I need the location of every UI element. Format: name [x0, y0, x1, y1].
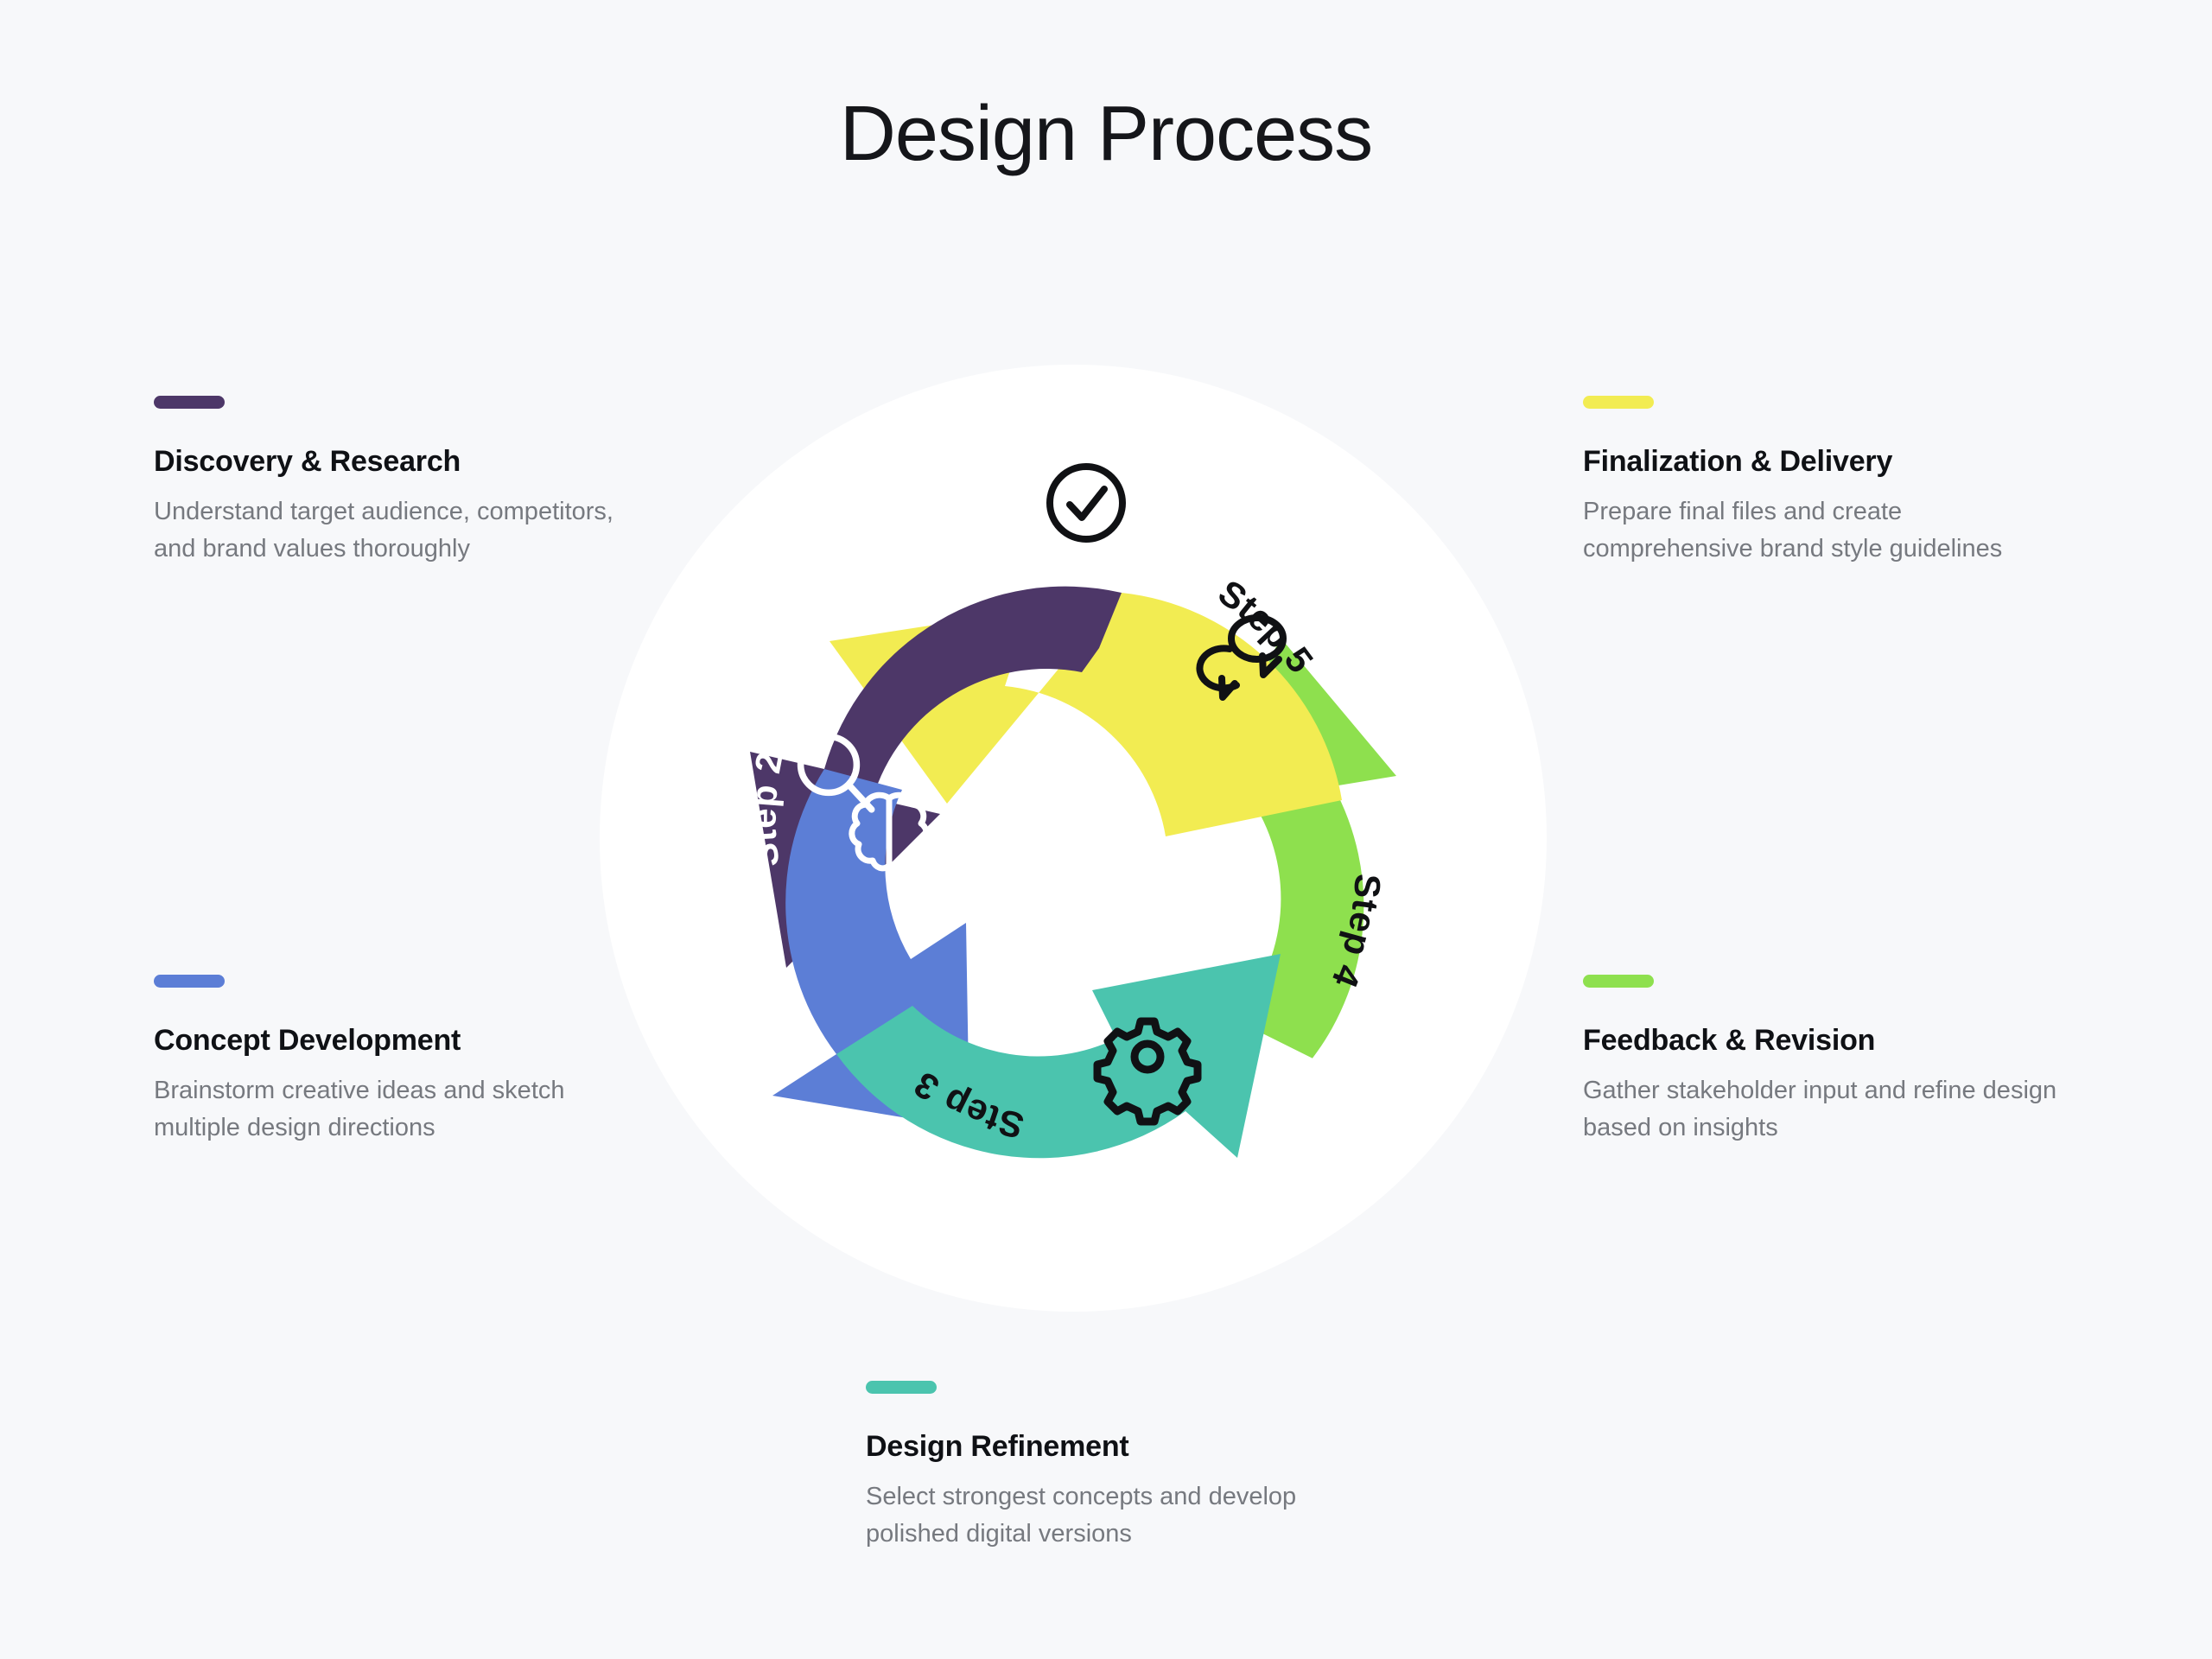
cycle-diagram: Step 1 Step 2 Step 3 Step 4 Step 5 [598, 363, 1548, 1313]
step-description-feedback: Gather stakeholder input and refine desi… [1583, 1072, 2067, 1146]
accent-bar-feedback [1583, 975, 1654, 988]
step-description-discovery: Understand target audience, competitors,… [154, 493, 638, 567]
step-description-concept: Brainstorm creative ideas and sketch mul… [154, 1072, 646, 1146]
step-label-2: Step 2 [743, 748, 791, 869]
step-heading-refinement: Design Refinement [866, 1430, 1384, 1464]
infographic-canvas: Design Process [0, 0, 2212, 1659]
step-info-discovery-research: Discovery & Research Understand target a… [154, 396, 638, 567]
step-heading-discovery: Discovery & Research [154, 445, 638, 479]
accent-bar-finalization [1583, 396, 1654, 409]
accent-bar-concept [154, 975, 225, 988]
step-description-finalization: Prepare final files and create comprehen… [1583, 493, 2067, 567]
step-info-concept-development: Concept Development Brainstorm creative … [154, 975, 646, 1146]
step-heading-concept: Concept Development [154, 1024, 646, 1058]
step-info-finalization-delivery: Finalization & Delivery Prepare final fi… [1583, 396, 2067, 567]
accent-bar-discovery [154, 396, 225, 409]
step-info-feedback-revision: Feedback & Revision Gather stakeholder i… [1583, 975, 2067, 1146]
page-title: Design Process [0, 93, 2212, 175]
step-description-refinement: Select strongest concepts and develop po… [866, 1478, 1384, 1552]
step-heading-finalization: Finalization & Delivery [1583, 445, 2067, 479]
step-info-design-refinement: Design Refinement Select strongest conce… [866, 1381, 1384, 1552]
accent-bar-refinement [866, 1381, 937, 1394]
step-heading-feedback: Feedback & Revision [1583, 1024, 2067, 1058]
